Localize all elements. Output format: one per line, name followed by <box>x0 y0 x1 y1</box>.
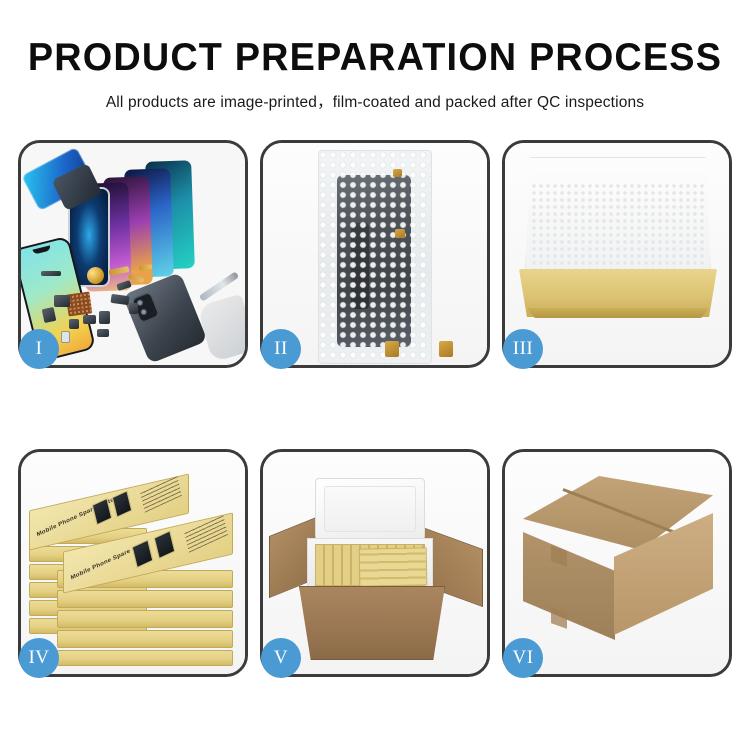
stacked-box-r3 <box>57 610 233 628</box>
small-part-1 <box>41 271 61 276</box>
process-step-4[interactable]: Mobile Phone Spare Parts Mobile Phone Sp… <box>18 449 248 677</box>
process-step-5[interactable]: V <box>260 449 490 677</box>
header: PRODUCT PREPARATION PROCESS All products… <box>0 0 750 112</box>
small-part-4 <box>69 319 79 329</box>
process-step-3[interactable]: III <box>502 140 732 368</box>
process-step-2[interactable]: II <box>260 140 490 368</box>
page-title: PRODUCT PREPARATION PROCESS <box>11 38 739 79</box>
step-4-image: Mobile Phone Spare Parts Mobile Phone Sp… <box>21 452 245 674</box>
small-part-5 <box>83 315 96 324</box>
tape-tab-3 <box>385 341 399 357</box>
page-subtitle: All products are image-printed，film-coat… <box>0 90 750 112</box>
bubble-wrap-bag <box>319 151 431 363</box>
step-badge-2: II <box>261 329 301 369</box>
packed-boxes-row-2 <box>359 547 428 586</box>
small-part-2 <box>54 295 70 307</box>
tape-tab-2 <box>395 229 405 238</box>
small-part-3 <box>42 307 57 323</box>
infographic-page: PRODUCT PREPARATION PROCESS All products… <box>0 0 750 750</box>
process-step-1[interactable]: I <box>18 140 248 368</box>
tape-tab-1 <box>393 169 402 177</box>
process-step-6[interactable]: VI <box>502 449 732 677</box>
stacked-box-r4 <box>57 630 233 648</box>
step-badge-4: IV <box>19 638 59 678</box>
step-5-image <box>263 452 487 674</box>
foam-lid <box>315 478 425 540</box>
small-part-8 <box>129 303 138 314</box>
step-badge-3: III <box>503 329 543 369</box>
box-front-edge <box>519 308 717 318</box>
small-part-7 <box>110 294 129 305</box>
small-part-6 <box>99 311 110 324</box>
stacked-box-r2 <box>57 590 233 608</box>
box-stack: Mobile Phone Spare Parts Mobile Phone Sp… <box>29 470 241 666</box>
process-step-grid: I II <box>18 140 732 677</box>
hand-holding-part <box>197 294 245 362</box>
small-part-10 <box>61 331 70 343</box>
carton-body <box>299 586 445 660</box>
step-2-image <box>263 143 487 365</box>
stacked-box-r5 <box>57 650 233 666</box>
tape-tab-4 <box>439 341 453 357</box>
step-3-image <box>505 143 729 365</box>
step-6-image <box>505 452 729 674</box>
step-1-image <box>21 143 245 365</box>
bubble-texture <box>319 151 431 363</box>
foam-sheet <box>531 183 705 271</box>
step-badge-5: V <box>261 638 301 678</box>
phone-back-housing <box>122 272 207 364</box>
carton-left-face <box>523 532 615 640</box>
step-badge-1: I <box>19 329 59 369</box>
step-badge-6: VI <box>503 638 543 678</box>
small-part-9 <box>97 329 109 337</box>
